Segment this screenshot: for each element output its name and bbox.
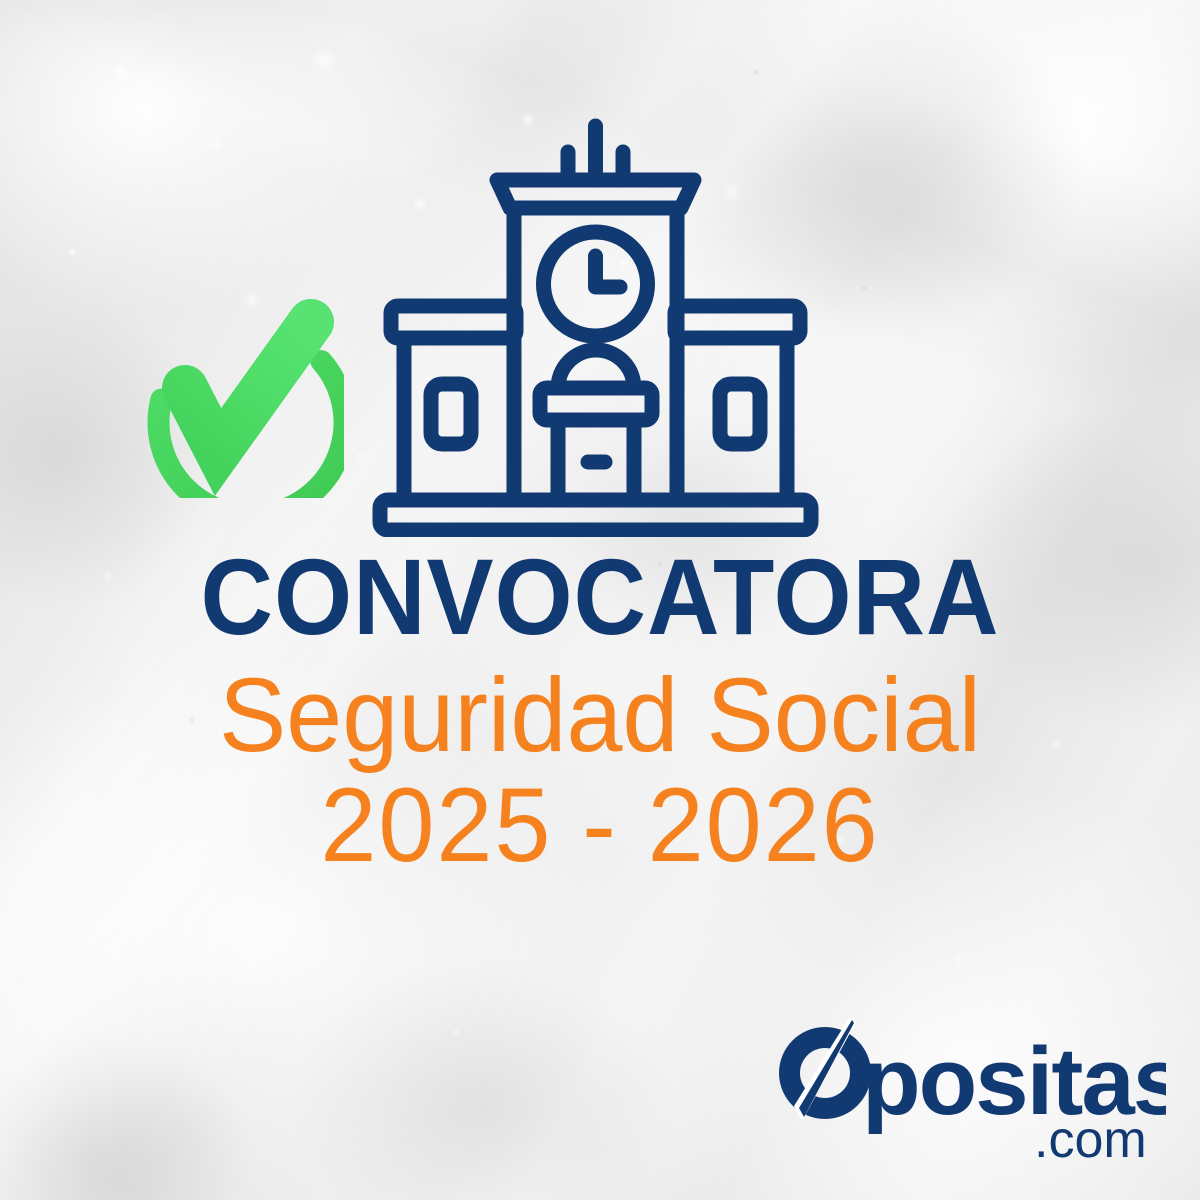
years-range: 2025 - 2026 [24, 773, 1176, 881]
poster-canvas: CONVOCATORA Seguridad Social 2025 - 2026… [0, 0, 1200, 1200]
page-title: CONVOCATORA [42, 543, 1158, 655]
government-building-icon [368, 112, 823, 537]
green-check-circle-icon [122, 278, 344, 498]
headline-block: CONVOCATORA Seguridad Social 2025 - 2026 [0, 543, 1200, 881]
brand-tld: .com [1034, 1111, 1147, 1164]
emblem-row [0, 0, 1200, 545]
brand-logo[interactable]: positas .com [766, 1014, 1166, 1164]
subtitle: Seguridad Social [24, 663, 1176, 771]
opositas-o-drop-icon [779, 1018, 871, 1121]
